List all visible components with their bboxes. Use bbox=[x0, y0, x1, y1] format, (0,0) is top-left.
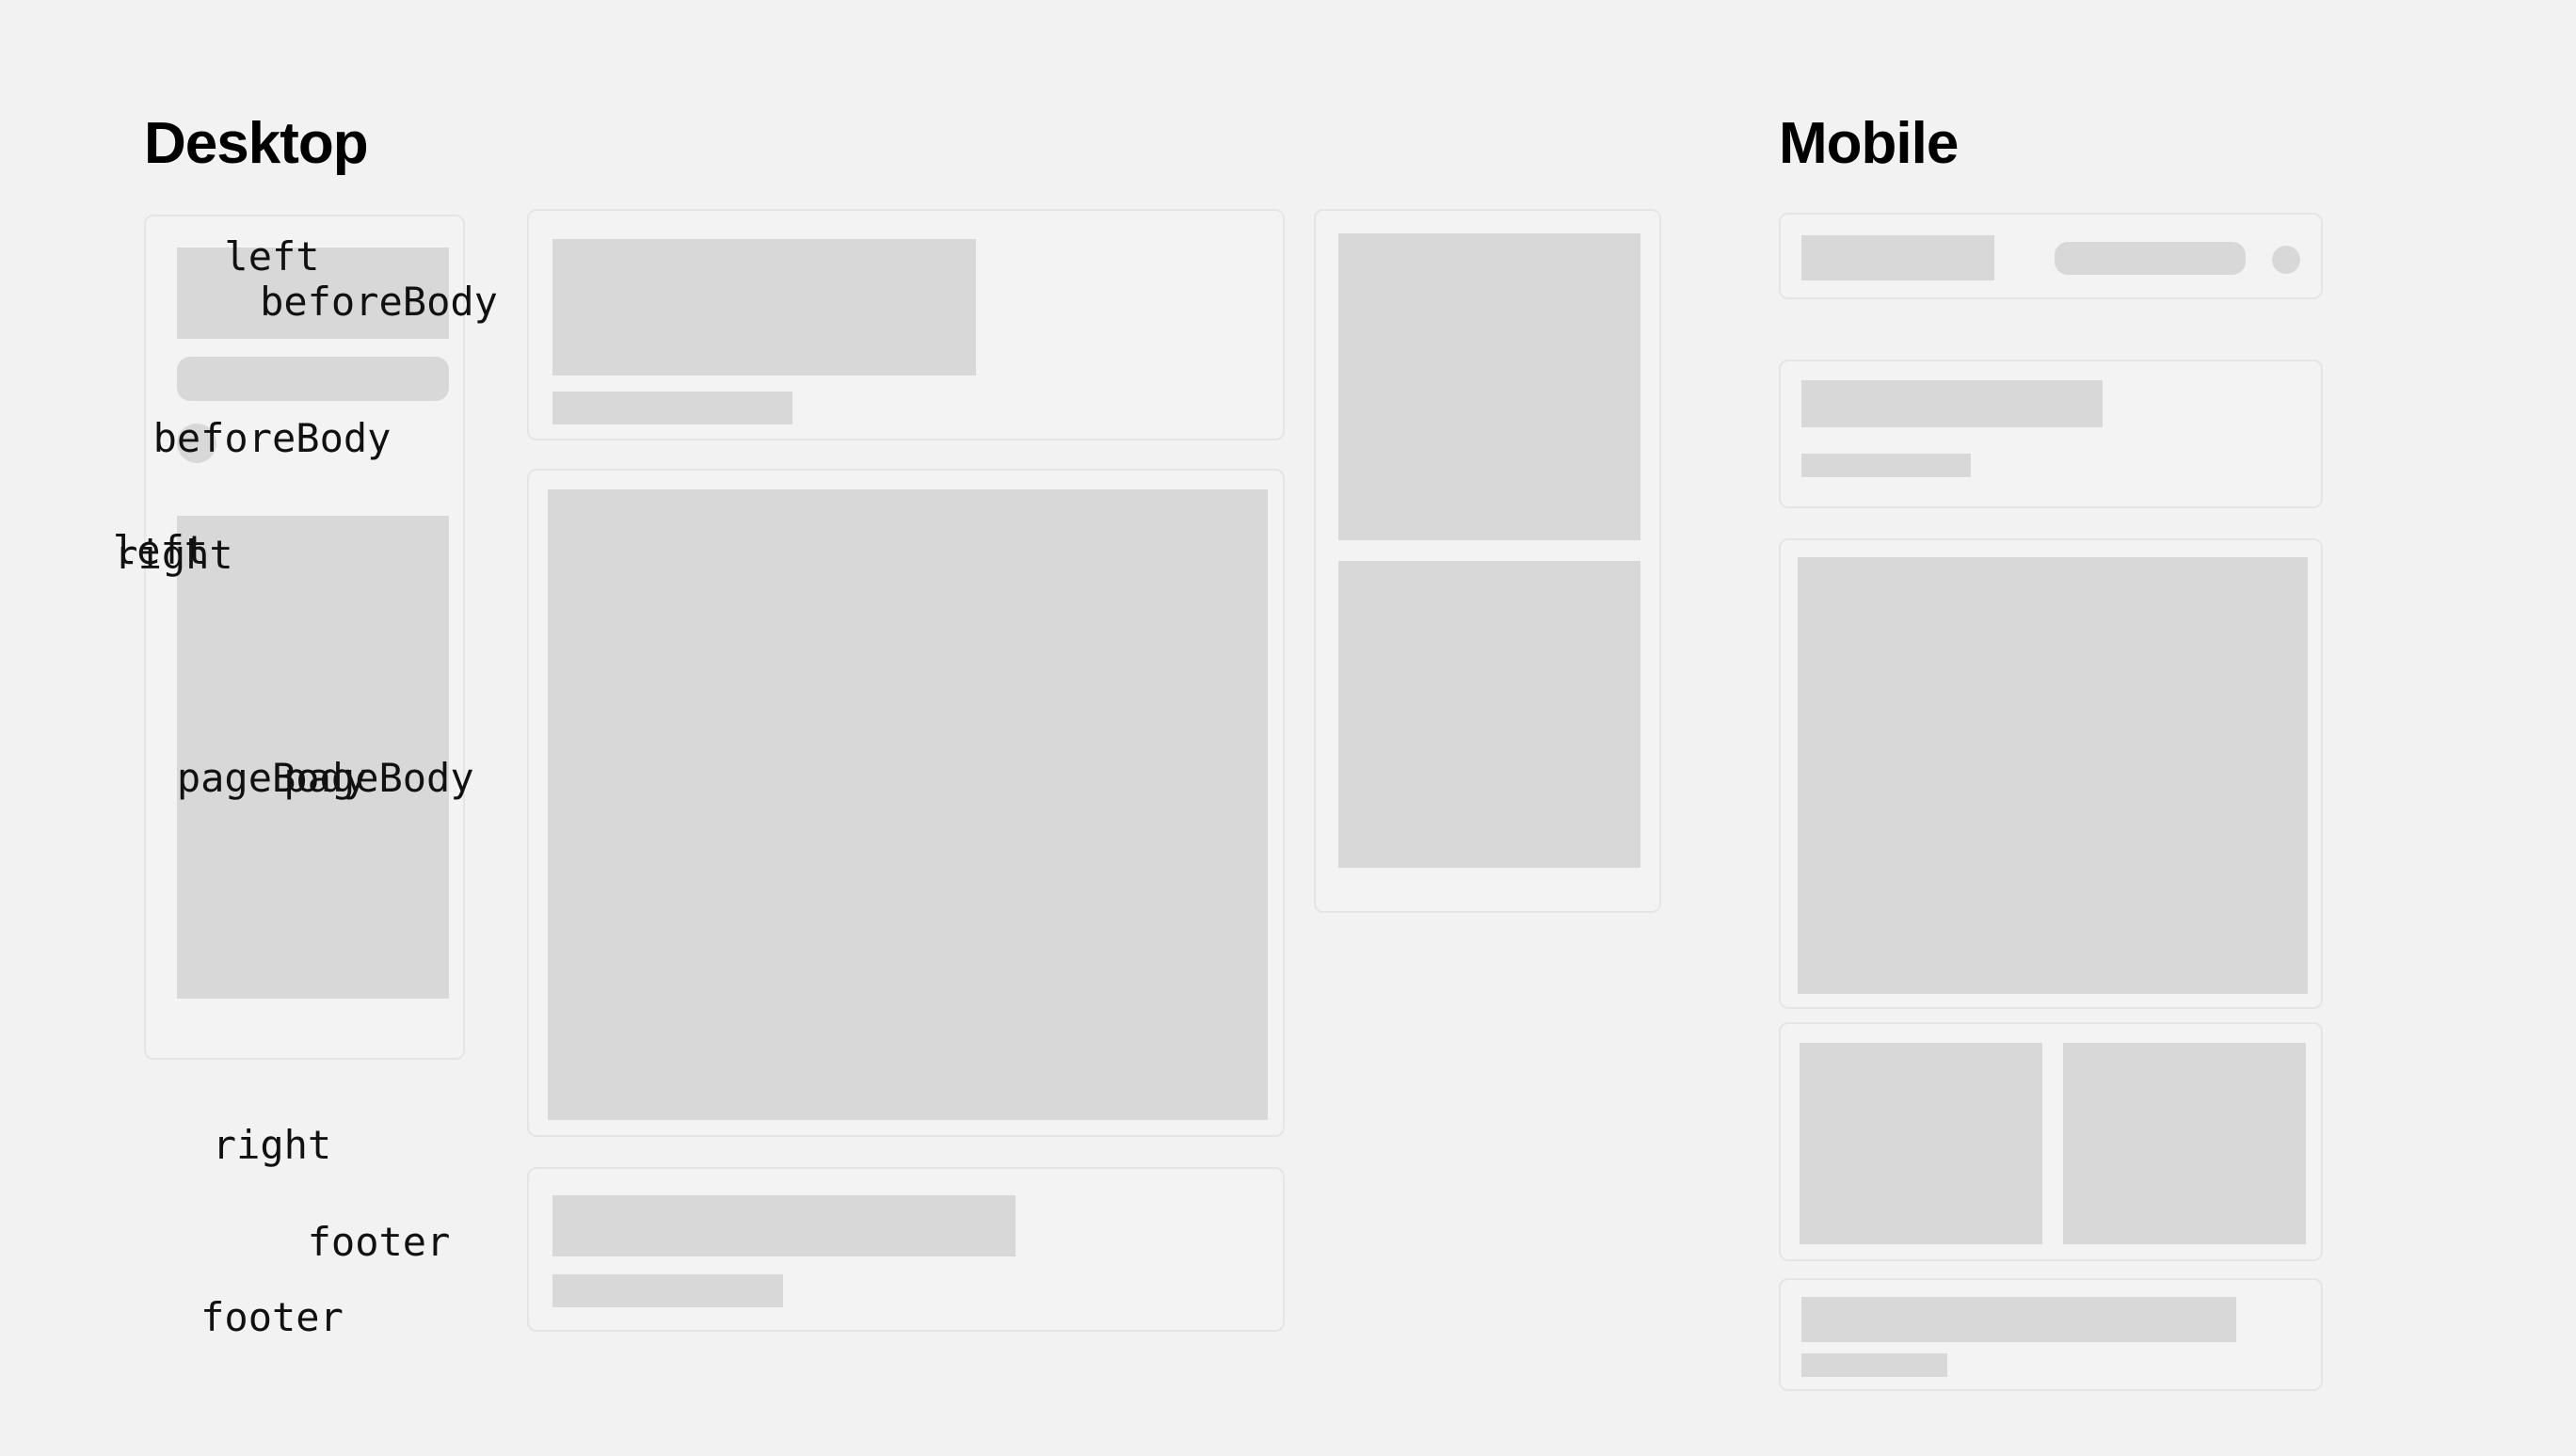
placeholder-block bbox=[1801, 1297, 2236, 1342]
mobile-beforebody-slot-panel[interactable] bbox=[1779, 360, 2323, 508]
responsive-layout-wireframe-page: { "page": { "background_color": "#f2f2f2… bbox=[0, 0, 2576, 1456]
placeholder-block bbox=[1801, 235, 1994, 280]
mobile-left-slot-panel[interactable] bbox=[1779, 213, 2323, 299]
placeholder-block bbox=[177, 248, 449, 339]
desktop-pagebody-slot-panel[interactable] bbox=[527, 469, 1285, 1137]
mobile-footer-slot-panel[interactable] bbox=[1779, 1278, 2323, 1391]
placeholder-block-small bbox=[552, 1274, 783, 1307]
placeholder-block-tall bbox=[177, 516, 449, 999]
mobile-footer-slot-label: footer bbox=[0, 1294, 544, 1340]
placeholder-block-small bbox=[1801, 454, 1971, 477]
placeholder-block-small bbox=[1801, 1353, 1947, 1377]
placeholder-block bbox=[552, 239, 976, 376]
desktop-right-slot-panel[interactable] bbox=[1314, 209, 1661, 913]
placeholder-block-rounded bbox=[177, 357, 449, 401]
placeholder-block bbox=[2063, 1043, 2306, 1244]
desktop-footer-slot-panel[interactable] bbox=[527, 1167, 1285, 1332]
placeholder-block bbox=[1801, 380, 2103, 427]
placeholder-block-rounded bbox=[2055, 242, 2246, 275]
placeholder-block-small bbox=[552, 392, 792, 424]
placeholder-avatar-circle bbox=[177, 424, 216, 463]
placeholder-block bbox=[552, 1195, 1016, 1256]
mobile-pagebody-slot-panel[interactable] bbox=[1779, 538, 2323, 1009]
placeholder-avatar-circle bbox=[2272, 246, 2300, 274]
mobile-right-slot-panel[interactable] bbox=[1779, 1022, 2323, 1261]
desktop-left-slot-panel[interactable] bbox=[144, 215, 465, 1060]
mobile-section-title: Mobile bbox=[1779, 115, 1958, 173]
desktop-section-title: Desktop bbox=[144, 115, 368, 173]
placeholder-block-large bbox=[1798, 557, 2308, 994]
placeholder-block bbox=[1338, 233, 1640, 540]
placeholder-block-large bbox=[548, 489, 1268, 1120]
placeholder-block bbox=[1800, 1043, 2042, 1244]
placeholder-block bbox=[1338, 561, 1640, 868]
mobile-right-slot-label: right bbox=[0, 1122, 544, 1168]
desktop-beforebody-slot-panel[interactable] bbox=[527, 209, 1285, 440]
